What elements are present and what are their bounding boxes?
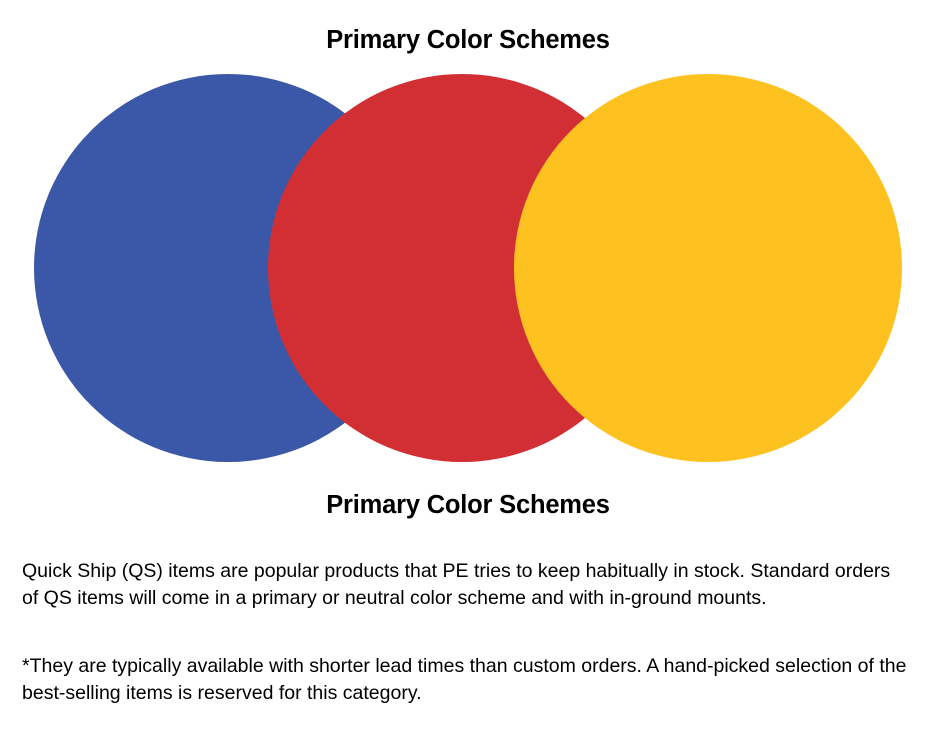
yellow-circle — [514, 74, 902, 462]
page-title-bottom: Primary Color Schemes — [0, 491, 936, 520]
body-paragraph-1: Quick Ship (QS) items are popular produc… — [22, 558, 910, 611]
body-paragraph-2: *They are typically available with short… — [22, 653, 910, 706]
venn-diagram — [0, 0, 936, 500]
slide-page: Primary Color Schemes Primary Color Sche… — [0, 0, 936, 736]
